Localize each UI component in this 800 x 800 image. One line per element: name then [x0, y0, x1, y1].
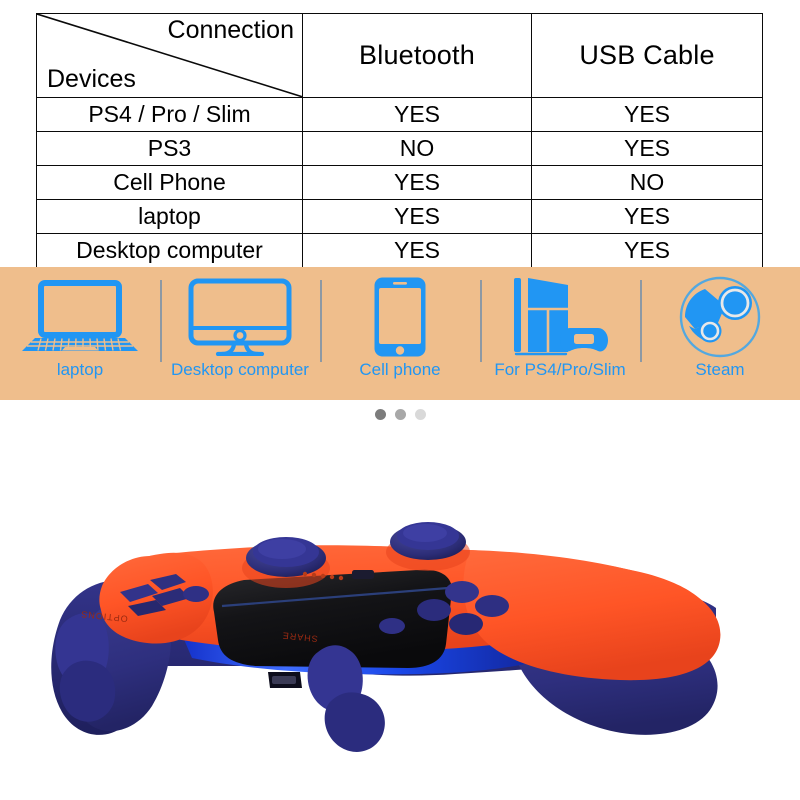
table-corner-cell: Connection Devices — [37, 14, 303, 98]
row-usb-value: YES — [532, 200, 763, 234]
table-header-row: Connection Devices Bluetooth USB Cable — [37, 14, 763, 98]
row-device-name: Cell Phone — [37, 166, 303, 200]
usb-port-inner — [272, 676, 296, 684]
column-header-usb-cable: USB Cable — [532, 14, 763, 98]
row-usb-value: NO — [532, 166, 763, 200]
share-button[interactable] — [379, 618, 405, 634]
band-label-steam: Steam — [695, 360, 744, 380]
square-button[interactable] — [417, 599, 451, 621]
circle-button[interactable] — [475, 595, 509, 617]
controller-illustration: OPTIONS SHARE — [0, 430, 800, 800]
table-row: Cell Phone YES NO — [37, 166, 763, 200]
cell-phone-icon — [373, 276, 427, 358]
compatibility-table-grid: Connection Devices Bluetooth USB Cable P… — [36, 13, 763, 268]
row-axis-label: Devices — [47, 64, 136, 94]
row-usb-value: YES — [532, 98, 763, 132]
band-item-desktop-computer: Desktop computer — [160, 267, 320, 400]
r2-trigger[interactable] — [325, 692, 385, 752]
carousel-dot-3[interactable] — [415, 409, 426, 420]
product-photo-ps4-controller: OPTIONS SHARE — [0, 430, 800, 800]
carousel-dots[interactable] — [0, 409, 800, 420]
row-device-name: PS4 / Pro / Slim — [37, 98, 303, 132]
band-label-laptop: laptop — [57, 360, 103, 380]
right-analog-stick[interactable] — [386, 522, 470, 571]
column-header-bluetooth: Bluetooth — [303, 14, 532, 98]
row-bluetooth-value: YES — [303, 166, 532, 200]
triangle-button[interactable] — [445, 581, 479, 603]
table-row: PS3 NO YES — [37, 132, 763, 166]
band-label-desktop-computer: Desktop computer — [171, 360, 309, 380]
band-label-cell-phone: Cell phone — [359, 360, 440, 380]
band-item-cell-phone: Cell phone — [320, 267, 480, 400]
table-row: Desktop computer YES YES — [37, 234, 763, 268]
band-item-laptop: laptop — [0, 267, 160, 400]
band-item-ps4: For PS4/Pro/Slim — [480, 267, 640, 400]
ext-port — [352, 570, 374, 579]
carousel-dot-2[interactable] — [395, 409, 406, 420]
row-usb-value: YES — [532, 234, 763, 268]
carousel-dot-1[interactable] — [375, 409, 386, 420]
row-bluetooth-value: YES — [303, 200, 532, 234]
row-bluetooth-value: YES — [303, 98, 532, 132]
row-device-name: Desktop computer — [37, 234, 303, 268]
column-axis-label: Connection — [168, 15, 294, 45]
band-label-ps4: For PS4/Pro/Slim — [494, 360, 625, 380]
laptop-icon — [21, 276, 139, 358]
table-row: laptop YES YES — [37, 200, 763, 234]
row-bluetooth-value: NO — [303, 132, 532, 166]
desktop-monitor-icon — [188, 276, 292, 358]
left-analog-stick[interactable] — [242, 537, 330, 588]
row-device-name: PS3 — [37, 132, 303, 166]
cross-button[interactable] — [449, 613, 483, 635]
steam-logo-icon — [679, 276, 761, 358]
table-row: PS4 / Pro / Slim YES YES — [37, 98, 763, 132]
row-bluetooth-value: YES — [303, 234, 532, 268]
ps4-console-icon — [508, 276, 612, 358]
supported-devices-band: laptop Desktop computer Cell phone — [0, 267, 800, 400]
band-item-steam: Steam — [640, 267, 800, 400]
row-device-name: laptop — [37, 200, 303, 234]
row-usb-value: YES — [532, 132, 763, 166]
options-button[interactable] — [183, 586, 209, 602]
compatibility-table: Connection Devices Bluetooth USB Cable P… — [36, 13, 762, 263]
